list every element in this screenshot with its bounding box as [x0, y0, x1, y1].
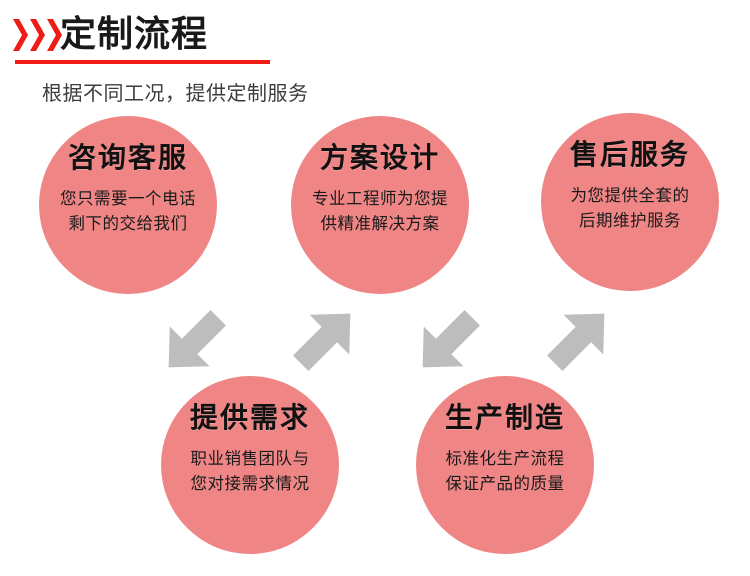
- step-description-line: 标准化生产流程: [446, 446, 565, 471]
- double-chevron-right-icon: [13, 19, 62, 51]
- page-subtitle: 根据不同工况，提供定制服务: [42, 80, 309, 108]
- page-title: 定制流程: [60, 12, 208, 56]
- arrow-down-right-icon: [155, 303, 233, 381]
- step-description-line: 为您提供全套的: [571, 183, 690, 208]
- step-description: 专业工程师为您提 供精准解决方案: [312, 186, 448, 236]
- process-step-after-sales: 售后服务 为您提供全套的 后期维护服务: [541, 113, 719, 291]
- step-description-line: 保证产品的质量: [446, 471, 565, 496]
- step-title: 提供需求: [190, 402, 310, 436]
- step-description-line: 您对接需求情况: [191, 471, 310, 496]
- chevron-right-icon-2: [30, 19, 45, 51]
- step-description: 职业销售团队与 您对接需求情况: [191, 446, 310, 496]
- step-title: 咨询客服: [68, 142, 188, 176]
- process-step-consult: 咨询客服 您只需要一个电话 剩下的交给我们: [39, 116, 217, 294]
- page-header: 定制流程 根据不同工况，提供定制服务: [0, 0, 750, 115]
- step-description-line: 后期维护服务: [571, 208, 690, 233]
- step-title: 售后服务: [570, 139, 690, 173]
- customization-process-infographic: 定制流程 根据不同工况，提供定制服务 咨询客服 您只需要一个电话 剩下的交给我们…: [0, 0, 750, 576]
- step-description: 您只需要一个电话 剩下的交给我们: [60, 186, 196, 236]
- step-title: 生产制造: [445, 402, 565, 436]
- chevron-right-icon-1: [13, 19, 28, 51]
- step-description-line: 您只需要一个电话: [60, 186, 196, 211]
- step-description-line: 剩下的交给我们: [60, 211, 196, 236]
- title-underline: [15, 60, 270, 64]
- process-step-manufacturing: 生产制造 标准化生产流程 保证产品的质量: [416, 376, 594, 554]
- step-description: 为您提供全套的 后期维护服务: [571, 183, 690, 233]
- arrow-up-right-icon: [286, 300, 364, 378]
- step-description-line: 供精准解决方案: [312, 211, 448, 236]
- arrow-down-right-icon: [409, 303, 487, 381]
- step-description-line: 专业工程师为您提: [312, 186, 448, 211]
- process-step-requirements: 提供需求 职业销售团队与 您对接需求情况: [161, 376, 339, 554]
- step-description-line: 职业销售团队与: [191, 446, 310, 471]
- process-step-design: 方案设计 专业工程师为您提 供精准解决方案: [291, 116, 469, 294]
- step-title: 方案设计: [320, 142, 440, 176]
- step-description: 标准化生产流程 保证产品的质量: [446, 446, 565, 496]
- arrow-up-right-icon: [540, 300, 618, 378]
